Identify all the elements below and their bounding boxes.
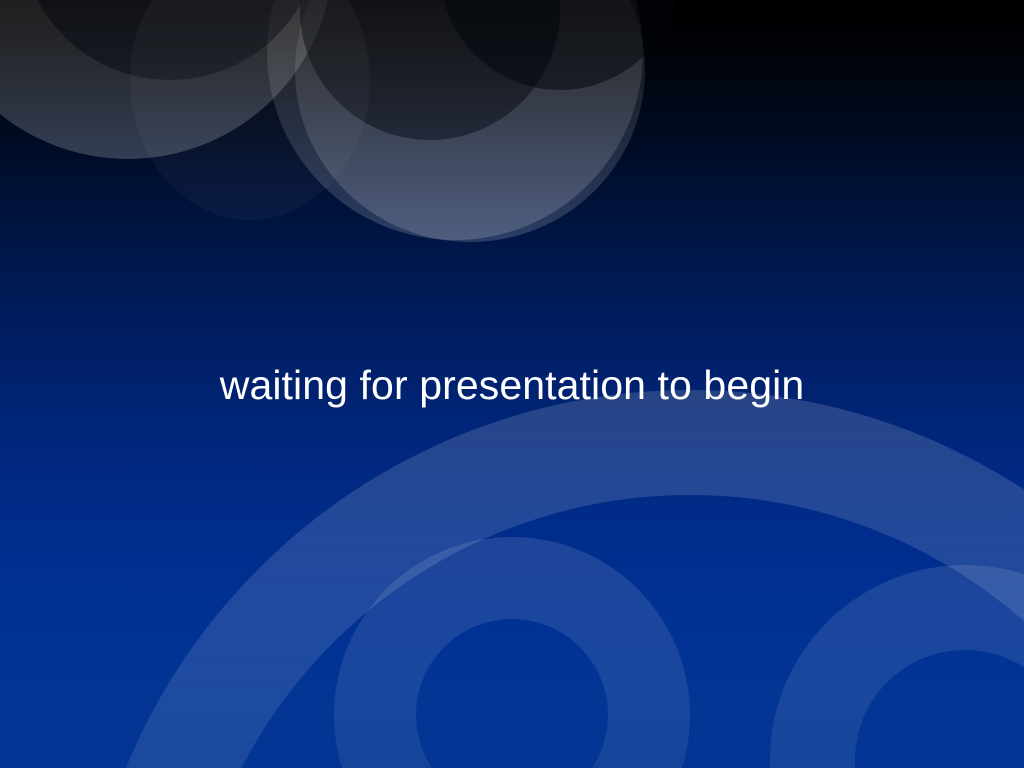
presentation-slide: waiting for presentation to begin: [0, 0, 1024, 768]
slide-caption: waiting for presentation to begin: [220, 363, 805, 408]
slide-caption-area: waiting for presentation to begin: [0, 0, 1024, 768]
